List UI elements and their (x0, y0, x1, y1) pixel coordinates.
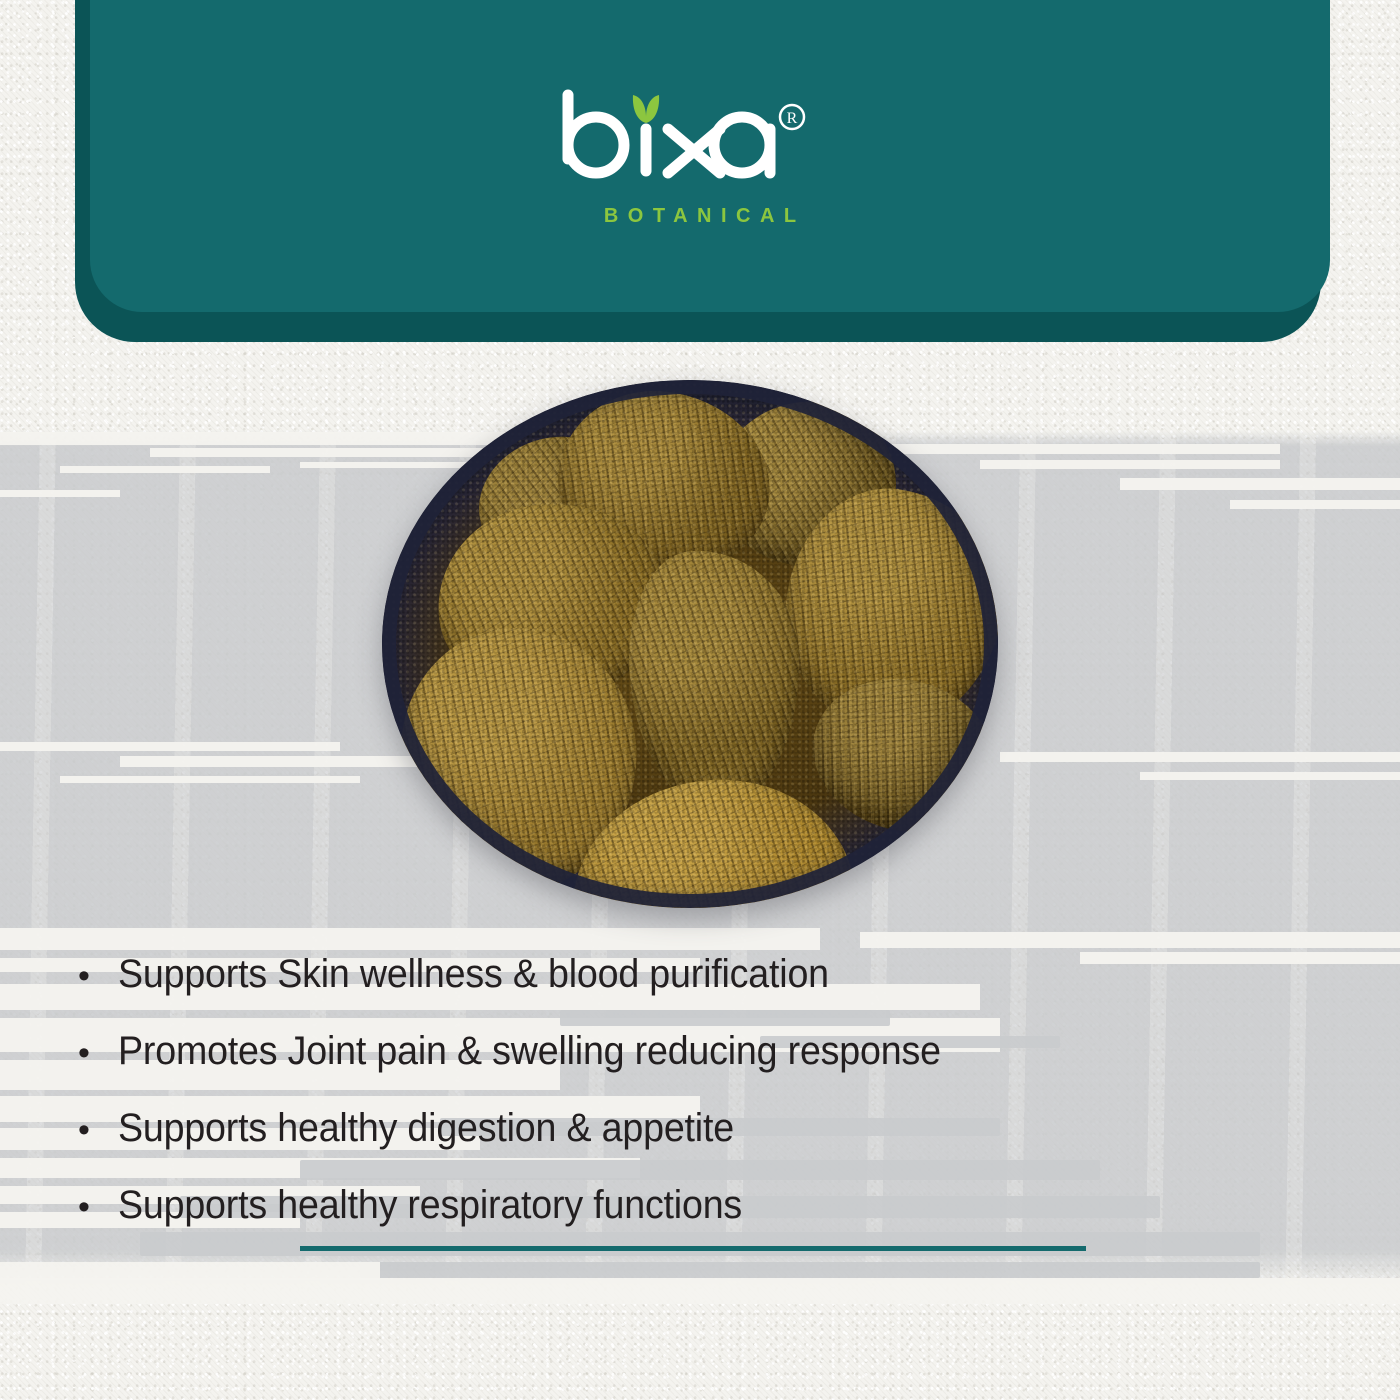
brush-scratch (0, 1278, 1400, 1304)
brush-scratch (60, 466, 270, 473)
bullet-icon: • (70, 1190, 118, 1224)
benefit-text: Supports Skin wellness & blood purificat… (118, 952, 829, 997)
brush-scratch (0, 490, 120, 497)
brand-wordmark: R (550, 87, 850, 202)
list-item: • Promotes Joint pain & swelling reducin… (70, 1029, 1170, 1106)
brush-scratch (0, 928, 820, 950)
brush-scratch (1230, 500, 1400, 509)
brush-scratch (0, 1262, 380, 1280)
brush-scratch (1120, 478, 1400, 490)
leaf-icon (633, 95, 659, 123)
root-chunk (623, 546, 806, 815)
brush-scratch (0, 742, 340, 751)
list-item: • Supports healthy digestion & appetite (70, 1106, 1170, 1183)
bixa-wordmark-svg: R (550, 87, 850, 202)
bullet-icon: • (70, 1113, 118, 1147)
brush-scratch (980, 460, 1280, 469)
product-benefits-graphic: R BOTANICAL • Supports Skin wellness & b… (0, 0, 1400, 1400)
accent-underline (300, 1246, 1086, 1251)
brush-scratch (1000, 752, 1400, 762)
benefit-text: Supports healthy respiratory functions (118, 1183, 742, 1228)
brand-logo: R BOTANICAL (0, 0, 1400, 312)
benefits-list: • Supports Skin wellness & blood purific… (70, 952, 1170, 1260)
product-photo (372, 362, 1010, 920)
brush-scratch (860, 932, 1400, 948)
benefit-text: Supports healthy digestion & appetite (118, 1106, 734, 1151)
brush-scratch (1140, 772, 1400, 780)
svg-text:R: R (787, 110, 798, 127)
registered-trademark-icon: R (780, 105, 804, 129)
brush-dark-streak (360, 1262, 1260, 1278)
bowl (382, 380, 998, 908)
bullet-icon: • (70, 959, 118, 993)
brush-scratch (60, 776, 360, 783)
brand-tagline: BOTANICAL (594, 206, 805, 226)
bullet-icon: • (70, 1036, 118, 1070)
list-item: • Supports Skin wellness & blood purific… (70, 952, 1170, 1029)
benefit-text: Promotes Joint pain & swelling reducing … (118, 1029, 941, 1074)
